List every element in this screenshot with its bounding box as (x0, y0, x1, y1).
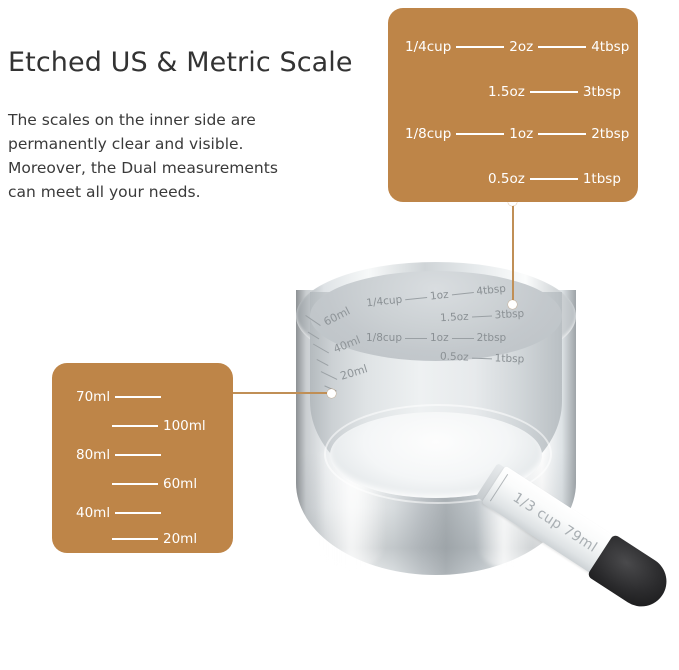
metric-row-4-label: 60ml (163, 476, 197, 492)
etch-dash-3b (452, 338, 474, 339)
etch-dash-3a (405, 338, 427, 339)
metric-row-4-dash (112, 483, 158, 485)
us-row-4-dash (530, 178, 578, 180)
callout-metric-row-2: 100ml (112, 418, 206, 434)
infographic-canvas: Etched US & Metric Scale The scales on t… (0, 0, 679, 670)
connector-line-us (512, 202, 514, 304)
etch-tbsp-2: 3tbsp (494, 308, 524, 322)
connector-dot-us-cup (508, 300, 517, 309)
measuring-cup-illustration: 60ml 40ml 20ml 1/4cup 1oz 4tbsp 1.5oz 3t… (288, 262, 588, 607)
callout-metric-row-4: 60ml (112, 476, 197, 492)
etch-tbsp-3: 2tbsp (477, 332, 507, 344)
callout-metric-row-5: 40ml (76, 505, 166, 521)
etch-oz-2: 1.5oz (440, 311, 469, 324)
connector-line-metric (233, 392, 331, 394)
description-line-3: Moreover, the Dual measurements (8, 156, 308, 180)
us-row-3-oz: 1oz (509, 126, 533, 142)
description-line-4: can meet all your needs. (8, 180, 308, 204)
us-row-4-tbsp: 1tbsp (583, 171, 621, 187)
us-row-3-cup: 1/8cup (405, 126, 451, 142)
metric-row-1-dash (115, 396, 161, 398)
callout-us-row-4: 0.5oz 1tbsp (488, 171, 621, 187)
us-row-1-dash-b (538, 46, 586, 48)
metric-row-6-label: 20ml (163, 531, 197, 547)
us-row-2-oz: 1.5oz (488, 84, 525, 100)
us-row-1-tbsp: 4tbsp (591, 39, 629, 55)
page-title: Etched US & Metric Scale (8, 48, 378, 78)
etch-dash-4 (472, 357, 492, 359)
etch-row-us-3: 1/8cup 1oz 2tbsp (366, 332, 506, 344)
callout-metric-measurements: 70ml 100ml 80ml 60ml 40ml 20ml (52, 363, 233, 553)
etch-oz-3: 1oz (430, 332, 449, 344)
metric-row-2-label: 100ml (163, 418, 206, 434)
metric-row-3-label: 80ml (76, 447, 110, 463)
us-row-1-cup: 1/4cup (405, 39, 451, 55)
us-row-2-dash (530, 91, 578, 93)
metric-row-3-dash (115, 454, 161, 456)
callout-metric-row-3: 80ml (76, 447, 166, 463)
us-row-3-dash-a (456, 133, 504, 135)
metric-row-1-label: 70ml (76, 389, 110, 405)
callout-us-row-1: 1/4cup 2oz 4tbsp (405, 39, 629, 55)
metric-row-6-dash (112, 538, 158, 540)
etch-tbsp-4: 1tbsp (494, 352, 524, 365)
description-line-2: permanently clear and visible. (8, 132, 308, 156)
callout-us-measurements: 1/4cup 2oz 4tbsp 1.5oz 3tbsp 1/8cup 1oz … (388, 8, 638, 202)
callout-metric-row-1: 70ml (76, 389, 166, 405)
etch-dash-2 (472, 315, 492, 317)
us-row-1-oz: 2oz (509, 39, 533, 55)
callout-us-row-3: 1/8cup 1oz 2tbsp (405, 126, 629, 142)
metric-row-2-dash (112, 425, 158, 427)
connector-dot-metric-cup (327, 389, 336, 398)
description-line-1: The scales on the inner side are (8, 108, 308, 132)
metric-row-5-dash (115, 512, 161, 514)
etch-dash-1a (405, 296, 427, 299)
callout-metric-row-6: 20ml (112, 531, 197, 547)
us-row-1-dash-a (456, 46, 504, 48)
etch-oz-4: 0.5oz (440, 351, 469, 364)
us-row-4-oz: 0.5oz (488, 171, 525, 187)
etch-oz-1: 1oz (429, 289, 449, 303)
us-row-3-tbsp: 2tbsp (591, 126, 629, 142)
metric-row-5-label: 40ml (76, 505, 110, 521)
description-paragraph: The scales on the inner side are permane… (8, 108, 308, 204)
etch-cup-3: 1/8cup (366, 332, 402, 344)
etch-dash-1b (451, 292, 473, 295)
callout-us-row-2: 1.5oz 3tbsp (488, 84, 621, 100)
us-row-3-dash-b (538, 133, 586, 135)
us-row-2-tbsp: 3tbsp (583, 84, 621, 100)
